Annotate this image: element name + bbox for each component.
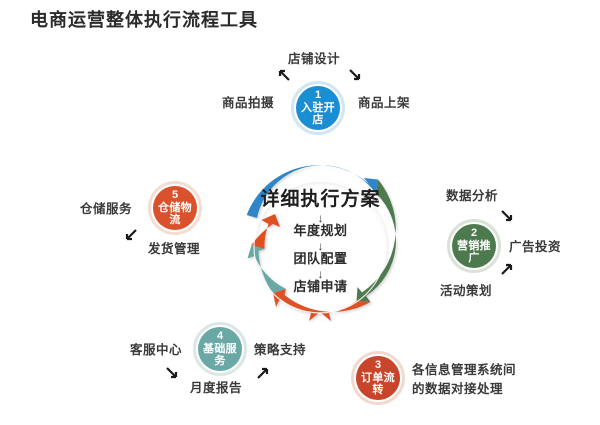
node-2-label-bottom: 活动策划	[440, 283, 492, 300]
node-3-label-line2: 的数据对接处理	[412, 381, 503, 398]
node-1-arrow-left-icon	[277, 68, 291, 82]
node-3-number: 3	[375, 360, 381, 372]
node-5-label-left: 仓储服务	[80, 201, 132, 218]
cycle-ring	[225, 152, 415, 342]
node-2-label-right: 广告投资	[509, 239, 561, 256]
node-2-number: 2	[471, 228, 477, 240]
node-3-label: 订单流转	[356, 372, 400, 396]
node-4-label: 基础服务	[198, 343, 242, 367]
node-5-label-bottom: 发货管理	[148, 241, 200, 258]
node-4-arrow-left-icon	[165, 366, 179, 380]
node-4-circle[interactable]: 4 基础服务	[198, 327, 242, 371]
node-2-circle[interactable]: 2 营销推广	[452, 224, 496, 268]
page-title: 电商运营整体执行流程工具	[30, 6, 258, 32]
node-1-label-top: 店铺设计	[288, 51, 340, 68]
node-5-circle[interactable]: 5 仓储物流	[153, 186, 197, 230]
ring-segment-right-green	[357, 180, 396, 303]
node-5-number: 5	[172, 190, 178, 202]
node-1-number: 1	[315, 90, 321, 102]
node-2-arrow-lower-icon	[500, 262, 514, 276]
node-3-label-line1: 各信息管理系统间	[412, 362, 516, 379]
node-2-label: 营销推广	[452, 240, 496, 264]
node-4-label-bottom: 月度报告	[190, 380, 242, 397]
node-1-arrow-right-icon	[348, 68, 362, 82]
node-5-label: 仓储物流	[153, 202, 197, 226]
node-3-circle[interactable]: 3 订单流转	[356, 356, 400, 400]
diagram-canvas: 电商运营整体执行流程工具 详细执行方案 ↓ 年度规划 ↓ 团队	[0, 0, 600, 425]
node-4-label-right: 策略支持	[254, 342, 306, 359]
node-1-circle[interactable]: 1 入驻开店	[296, 86, 340, 130]
node-5-arrow-left-icon	[124, 228, 138, 242]
node-4-number: 4	[217, 331, 223, 343]
node-1-label-right: 商品上架	[358, 95, 410, 112]
ring-segment-top-blue	[247, 165, 378, 218]
node-2-arrow-upper-icon	[500, 209, 514, 223]
node-4-label-left: 客服中心	[130, 342, 182, 359]
node-1-label: 入驻开店	[296, 102, 340, 126]
node-2-label-top: 数据分析	[446, 188, 498, 205]
node-4-arrow-right-icon	[256, 366, 270, 380]
node-1-label-left: 商品拍摄	[222, 95, 274, 112]
